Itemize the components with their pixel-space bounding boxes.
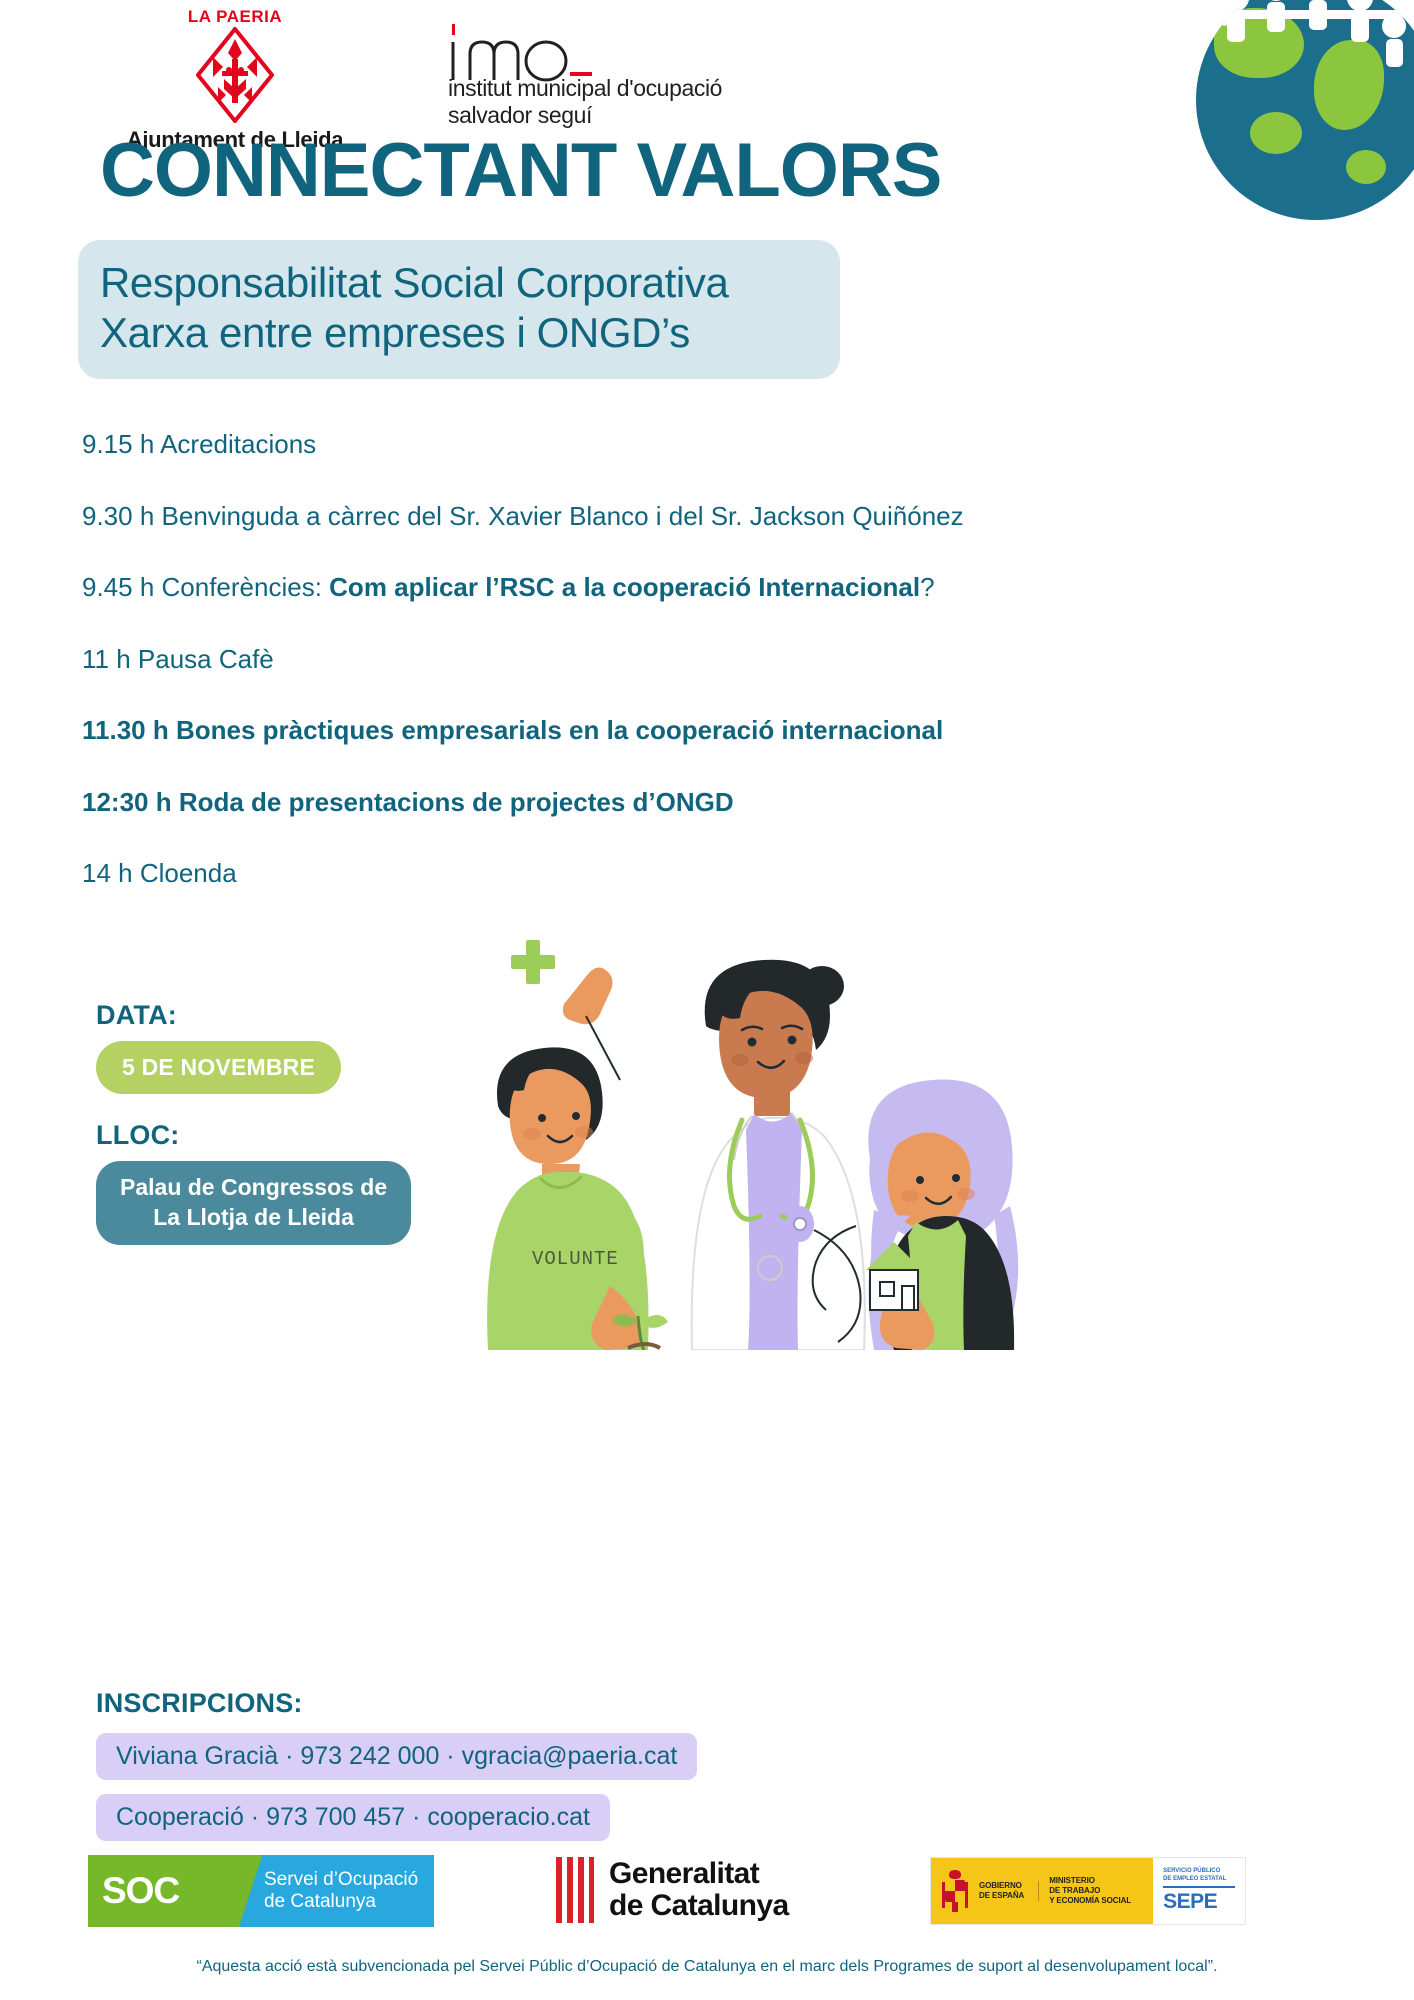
schedule-item-text: 9.15 h Acreditacions [82,429,316,459]
volunteers-illustration: VOLUNTE [470,930,1070,1350]
sepe-acronym: SEPE [1163,1890,1235,1914]
paeria-coat-of-arms-icon [196,27,274,123]
generalitat-line-2: de Catalunya [609,1890,789,1922]
sepe-divider [1163,1886,1235,1888]
ministerio-line-3: Y ECONOMÍA SOCIAL [1049,1896,1131,1906]
gobierno-column-2: MINISTERIO DE TRABAJO Y ECONOMÍA SOCIAL [1049,1876,1145,1906]
paeria-top-label: LA PAERIA [90,8,380,25]
schedule-item: 9.15 h Acreditacions [82,428,1102,461]
generalitat-line-1: Generalitat [609,1858,789,1890]
event-info-column: DATA: 5 DE NOVEMBRE LLOC: Palau de Congr… [96,1000,516,1245]
schedule-item-tail: ? [920,572,934,602]
generalitat-logo: Generalitat de Catalunya [553,1857,789,1923]
soc-line-1: Servei d’Ocupació [264,1869,434,1891]
place-value-pill: Palau de Congressos de La Llotja de Llei… [96,1161,411,1245]
gobierno-column-1: GOBIERNO DE ESPAÑA [979,1881,1039,1901]
spain-coat-of-arms-icon [939,1868,971,1914]
soc-acronym: SOC [102,1870,179,1912]
subtitle-box: Responsabilitat Social Corporativa Xarxa… [78,240,840,379]
place-line-1: Palau de Congressos de [120,1173,387,1203]
imo-logo: institut municipal d'ocupació salvador s… [448,22,778,128]
gobierno-line-2: DE ESPAÑA [979,1891,1024,1901]
schedule-item-text: 11 h Pausa Cafè [82,644,274,674]
sepe-small-line-2: DE EMPLEO ESTATAL [1163,1876,1235,1884]
date-value-pill: 5 DE NOVEMBRE [96,1041,341,1094]
imo-wordmark [448,22,778,74]
schedule-item-text: 11.30 h Bones pràctiques empresarials en… [82,715,943,745]
ministerio-line-1: MINISTERIO [1049,1876,1131,1886]
schedule-item: 14 h Cloenda [82,857,1102,890]
schedule-list: 9.15 h Acreditacions 9.30 h Benvinguda a… [82,428,1102,929]
imo-subtitle-line2: salvador seguí [448,103,778,128]
generalitat-text: Generalitat de Catalunya [609,1858,789,1923]
poster-root: LA PAERIA Ajuntament de Lleida [0,0,1414,2000]
inscriptions-block: INSCRIPCIONS: Viviana Gracià · 973 242 0… [96,1688,716,1855]
sepe-small-line-1: SERVICIO PÚBLICO [1163,1868,1235,1876]
schedule-item-text: 14 h Cloenda [82,858,237,888]
soc-logo: SOC Servei d’Ocupació de Catalunya [88,1855,434,1927]
schedule-item-text: 12:30 h Roda de presentacions de project… [82,787,734,817]
ministerio-line-2: DE TRABAJO [1049,1886,1131,1896]
schedule-item: 11 h Pausa Cafè [82,643,1102,676]
place-label: LLOC: [96,1120,516,1151]
schedule-item: 9.30 h Benvinguda a càrrec del Sr. Xavie… [82,500,1102,533]
date-label: DATA: [96,1000,516,1031]
svg-text:VOLUNTE: VOLUNTE [532,1248,619,1270]
globe-people-chain-icon [1196,0,1414,220]
schedule-item-text: 9.45 h Conferències: [82,572,329,602]
soc-acronym-block: SOC [88,1855,238,1927]
gobierno-line-1: GOBIERNO [979,1881,1024,1891]
place-line-2: La Llotja de Lleida [120,1203,387,1233]
schedule-item: 11.30 h Bones pràctiques empresarials en… [82,714,1102,747]
subtitle-line-2: Xarxa entre empreses i ONGD’s [100,308,818,358]
inscriptions-label: INSCRIPCIONS: [96,1688,716,1719]
gobierno-espana-logo: GOBIERNO DE ESPAÑA MINISTERIO DE TRABAJO… [930,1857,1246,1925]
gobierno-yellow-block: GOBIERNO DE ESPAÑA MINISTERIO DE TRABAJO… [931,1858,1153,1924]
contact-pill[interactable]: Cooperació · 973 700 457 · cooperacio.ca… [96,1794,610,1841]
schedule-item-text: 9.30 h Benvinguda a càrrec del Sr. Xavie… [82,501,964,531]
sepe-block: SERVICIO PÚBLICO DE EMPLEO ESTATAL SEPE [1153,1858,1245,1924]
schedule-item-emphasis: Com aplicar l’RSC a la cooperació Intern… [329,572,920,602]
schedule-item: 9.45 h Conferències: Com aplicar l’RSC a… [82,571,1102,604]
soc-name-block: Servei d’Ocupació de Catalunya [238,1855,434,1927]
funding-disclaimer: “Aquesta acció està subvencionada pel Se… [0,1958,1414,1976]
page-title: CONNECTANT VALORS [100,133,942,209]
subtitle-line-1: Responsabilitat Social Corporativa [100,258,818,308]
soc-line-2: de Catalunya [264,1891,434,1913]
schedule-item: 12:30 h Roda de presentacions de project… [82,786,1102,819]
footer-logos: SOC Servei d’Ocupació de Catalunya Gener… [0,1855,1414,1945]
catalonia-flag-icon [553,1857,595,1923]
contact-pill[interactable]: Viviana Gracià · 973 242 000 · vgracia@p… [96,1733,697,1780]
